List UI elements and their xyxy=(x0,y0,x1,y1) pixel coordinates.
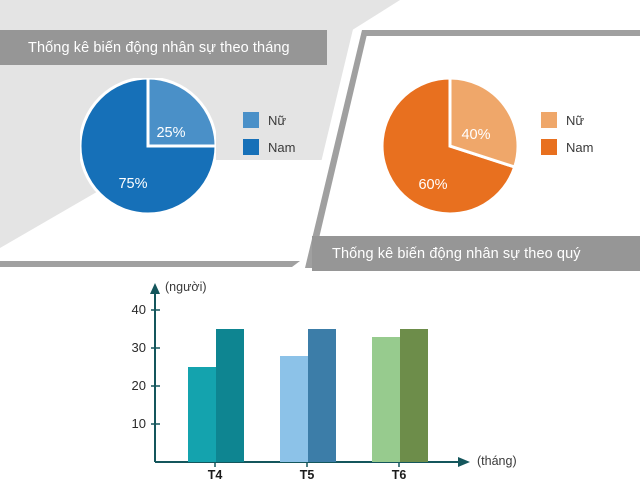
x-tick-label-t5: T5 xyxy=(300,468,315,482)
legend-month-item-nu[interactable]: Nữ xyxy=(243,112,295,128)
bar-t4-series1[interactable] xyxy=(188,367,216,462)
y-tick-label-20: 20 xyxy=(120,378,146,393)
bottom-rail-joint xyxy=(284,261,300,267)
panel-title-quarter: Thống kê biến động nhân sự theo quý xyxy=(312,236,640,271)
legend-quarter-label-nam: Nam xyxy=(566,140,593,155)
x-axis-caption: (tháng) xyxy=(477,454,517,468)
legend-quarter-item-nu[interactable]: Nữ xyxy=(541,112,593,128)
bar-t4-series2[interactable] xyxy=(216,329,244,462)
legend-month-item-nam[interactable]: Nam xyxy=(243,139,295,155)
legend-quarter-item-nam[interactable]: Nam xyxy=(541,139,593,155)
left-panel-bottom-rail xyxy=(0,261,290,267)
bar-t5-series1[interactable] xyxy=(280,356,308,462)
legend-quarter-label-nu: Nữ xyxy=(566,113,584,128)
x-axis-arrow-icon xyxy=(458,457,470,467)
y-tick-label-30: 30 xyxy=(120,340,146,355)
y-axis-arrow-icon xyxy=(150,283,160,294)
legend-month-label-nu: Nữ xyxy=(268,113,286,128)
pie-quarter-svg xyxy=(382,78,518,214)
legend-swatch-nu-icon xyxy=(541,112,557,128)
y-tick-label-40: 40 xyxy=(120,302,146,317)
pie-month-svg xyxy=(80,78,216,214)
pie-chart-quarter: 40% 60% xyxy=(382,78,518,214)
legend-swatch-nam-icon xyxy=(541,139,557,155)
panel-title-quarter-text: Thống kê biến động nhân sự theo quý xyxy=(332,246,581,262)
legend-swatch-nu-icon xyxy=(243,112,259,128)
infographic-canvas: Thống kê biến động nhân sự theo tháng Th… xyxy=(0,0,640,495)
right-panel-top-rail xyxy=(362,30,640,36)
panel-title-month-text: Thống kê biến động nhân sự theo tháng xyxy=(28,40,290,56)
x-tick-label-t6: T6 xyxy=(392,468,407,482)
panel-title-month: Thống kê biến động nhân sự theo tháng xyxy=(0,30,327,65)
pie-month-slice-nu xyxy=(148,78,216,146)
pie-chart-month: 25% 75% xyxy=(80,78,216,214)
x-tick-label-t4: T4 xyxy=(208,468,223,482)
y-tick-label-10: 10 xyxy=(120,416,146,431)
legend-quarter: Nữ Nam xyxy=(541,112,593,166)
bar-t5-series2[interactable] xyxy=(308,329,336,462)
legend-month-label-nam: Nam xyxy=(268,140,295,155)
bar-t6-series1[interactable] xyxy=(372,337,400,462)
y-axis-caption: (người) xyxy=(165,280,207,294)
legend-month: Nữ Nam xyxy=(243,112,295,166)
bar-chart-months: (người) (tháng) 40 30 20 10 T4 T5 T6 xyxy=(120,272,560,495)
bar-t6-series2[interactable] xyxy=(400,329,428,462)
legend-swatch-nam-icon xyxy=(243,139,259,155)
